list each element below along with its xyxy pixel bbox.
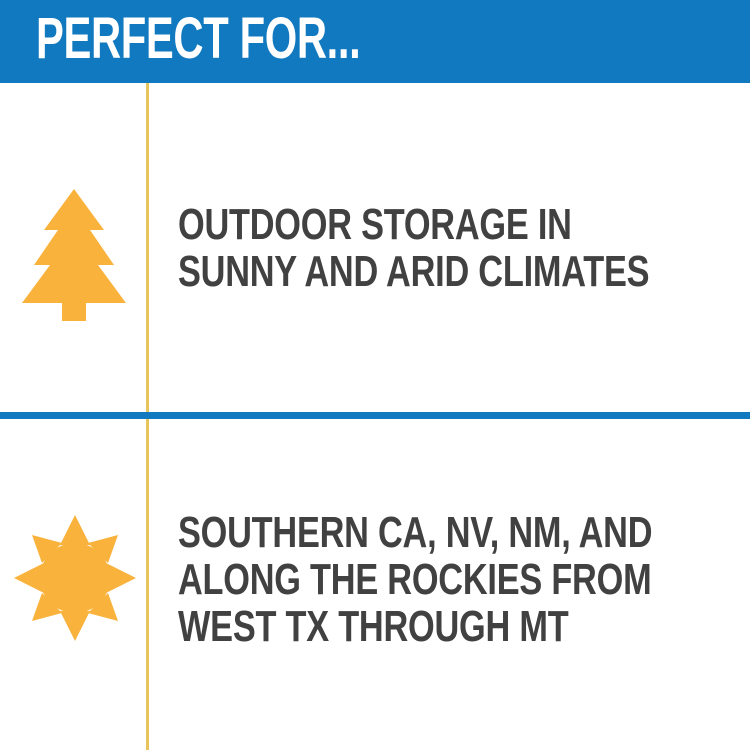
sun-icon — [14, 515, 136, 641]
page-title: PERFECT FOR... — [36, 8, 360, 70]
feature-text-line: WEST TX THROUGH MT — [178, 603, 652, 650]
header-banner: PERFECT FOR... — [0, 0, 750, 83]
feature-text-outdoor-storage: OUTDOOR STORAGE IN SUNNY AND ARID CLIMAT… — [178, 201, 649, 295]
feature-text-line: SUNNY AND ARID CLIMATES — [178, 248, 649, 295]
feature-text-line: SOUTHERN CA, NV, NM, AND — [178, 509, 652, 556]
feature-text-line: ALONG THE ROCKIES FROM — [178, 556, 652, 603]
feature-text-line: OUTDOOR STORAGE IN — [178, 201, 649, 248]
section-divider — [0, 412, 750, 419]
infographic-panel: PERFECT FOR... OUTDOOR STORAGE IN SUNNY … — [0, 0, 750, 750]
pine-tree-icon — [22, 189, 126, 321]
feature-row-outdoor-storage: OUTDOOR STORAGE IN SUNNY AND ARID CLIMAT… — [0, 83, 750, 412]
feature-row-regions: SOUTHERN CA, NV, NM, AND ALONG THE ROCKI… — [0, 419, 750, 750]
feature-text-regions: SOUTHERN CA, NV, NM, AND ALONG THE ROCKI… — [178, 509, 652, 650]
